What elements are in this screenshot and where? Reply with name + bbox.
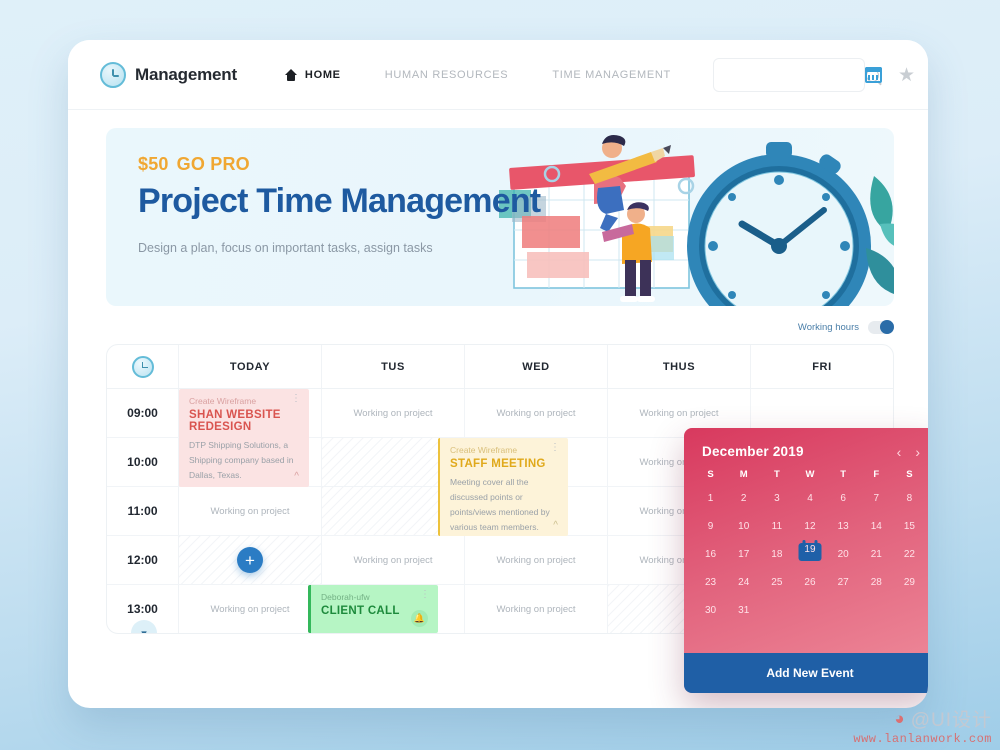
clock-icon [132, 356, 154, 378]
event-card-shan-website-redesign[interactable]: ⋮ Create Wireframe SHAN WEBSITE REDESIGN… [179, 389, 309, 487]
hero-text: $50GO PRO Project Time Management Design… [106, 128, 894, 255]
toggle-knob [880, 320, 894, 334]
more-vertical-icon[interactable]: ⋮ [291, 395, 301, 403]
time-label-1200: 12:00 [107, 536, 179, 584]
watermark-url: www.lanlanwork.com [853, 732, 992, 746]
more-vertical-icon[interactable]: ⋮ [550, 444, 560, 452]
event-subtitle: Create Wireframe [189, 396, 299, 406]
date-picker-navs: ‹ › [897, 445, 920, 459]
schedule-clock-header [107, 345, 179, 388]
date-picker-week-1: 1 2 3 4 6 7 8 [684, 490, 928, 508]
day-cell[interactable]: 13 [827, 518, 860, 536]
slot-today-1100[interactable]: Working on project [179, 487, 322, 535]
date-picker-panel: December 2019 ‹ › S M T W T F S 1 2 3 4 … [684, 428, 928, 693]
event-description: Meeting cover all the discussed points o… [450, 475, 558, 535]
time-label-1000: 10:00 [107, 438, 179, 486]
day-cell[interactable]: 24 [727, 574, 760, 592]
selected-day-badge: 19 [798, 543, 821, 561]
working-hours-row: Working hours [68, 318, 894, 336]
nav-item-time-management[interactable]: TIME MANAGEMENT [552, 69, 671, 81]
time-label-0900: 09:00 [107, 389, 179, 437]
bell-icon[interactable]: 🔔 [411, 610, 428, 627]
day-cell[interactable]: 31 [727, 602, 760, 620]
event-title: STAFF MEETING [450, 458, 558, 470]
date-picker-week-4: 23 24 25 26 27 28 29 [684, 574, 928, 592]
day-cell-empty [827, 602, 860, 620]
event-subtitle: Deborah-ufw [321, 592, 428, 602]
day-cell-empty [760, 602, 793, 620]
day-cell[interactable]: 30 [694, 602, 727, 620]
home-icon [285, 69, 298, 81]
header-actions: ★ 0 [865, 61, 928, 89]
hero-title: Project Time Management [138, 182, 894, 221]
day-header-today[interactable]: TODAY [179, 345, 322, 388]
day-cell[interactable]: 15 [893, 518, 926, 536]
hero-tag: $50GO PRO [138, 154, 894, 175]
day-cell[interactable]: 27 [827, 574, 860, 592]
time-label-1100: 11:00 [107, 487, 179, 535]
dow-tue: T [760, 469, 793, 480]
day-header-fri[interactable]: FRI [751, 345, 893, 388]
day-cell[interactable]: 9 [694, 518, 727, 536]
nav-item-human-resources-label: HUMAN RESOURCES [385, 69, 509, 81]
hero-price: $50 [138, 154, 169, 174]
day-cell[interactable]: 3 [760, 490, 793, 508]
nav-item-human-resources[interactable]: HUMAN RESOURCES [385, 69, 509, 81]
search-box[interactable] [713, 58, 865, 92]
day-cell[interactable]: 21 [860, 546, 893, 564]
app-window: Management HOME HUMAN RESOURCES TIME MAN… [68, 40, 928, 708]
hero-banner: $50GO PRO Project Time Management Design… [106, 128, 894, 306]
app-header: Management HOME HUMAN RESOURCES TIME MAN… [68, 40, 928, 110]
dow-wed: W [793, 469, 826, 480]
chevron-left-icon[interactable]: ‹ [897, 445, 902, 459]
calendar-icon[interactable] [865, 67, 882, 83]
day-header-tus[interactable]: TUS [322, 345, 465, 388]
event-description: DTP Shipping Solutions, a Shipping compa… [189, 438, 299, 483]
star-icon[interactable]: ★ [898, 66, 915, 85]
working-hours-toggle[interactable] [868, 321, 894, 334]
day-cell[interactable]: 6 [827, 490, 860, 508]
search-input[interactable] [724, 69, 866, 81]
date-picker-title: December 2019 [702, 444, 804, 459]
dow-thu: T [827, 469, 860, 480]
watermark-handle: @UI设计 [911, 705, 992, 732]
nav-item-home[interactable]: HOME [285, 69, 341, 81]
day-cell[interactable]: 7 [860, 490, 893, 508]
event-card-staff-meeting[interactable]: ⋮ Create Wireframe STAFF MEETING Meeting… [438, 438, 568, 536]
slot-tus-1200[interactable]: Working on project [322, 536, 465, 584]
day-cell-empty [793, 602, 826, 620]
day-cell[interactable]: 18 [760, 546, 793, 564]
hero-pro-label: GO PRO [177, 154, 250, 174]
date-picker-week-5: 30 31 [684, 602, 928, 620]
more-vertical-icon[interactable]: ⋮ [420, 591, 430, 599]
day-cell[interactable]: 20 [827, 546, 860, 564]
day-header-wed[interactable]: WED [465, 345, 608, 388]
dow-mon: M [727, 469, 760, 480]
working-hours-label: Working hours [798, 322, 859, 333]
day-cell-empty [893, 602, 926, 620]
day-cell[interactable]: 11 [760, 518, 793, 536]
slot-wed-1200[interactable]: Working on project [465, 536, 608, 584]
day-cell[interactable]: 10 [727, 518, 760, 536]
schedule-header-row: TODAY TUS WED THUS FRI [107, 345, 893, 389]
slot-wed-0900[interactable]: Working on project [465, 389, 608, 437]
nav-item-home-label: HOME [305, 69, 341, 81]
slot-wed-1300[interactable]: Working on project [465, 585, 608, 633]
watermark: ◕ @UI设计 www.lanlanwork.com [853, 705, 992, 746]
day-cell[interactable]: 25 [760, 574, 793, 592]
chevron-right-icon[interactable]: › [915, 445, 920, 459]
watermark-handle-row: ◕ @UI设计 [853, 705, 992, 732]
day-cell[interactable]: 26 [793, 574, 826, 592]
main-nav: HOME HUMAN RESOURCES TIME MANAGEMENT [285, 69, 671, 81]
slot-today-1300[interactable]: Working on project [179, 585, 322, 633]
chevron-up-icon[interactable]: ^ [294, 471, 299, 482]
day-cell[interactable]: 17 [727, 546, 760, 564]
day-cell[interactable]: 12 [793, 518, 826, 536]
dow-sun: S [694, 469, 727, 480]
day-header-thus[interactable]: THUS [608, 345, 751, 388]
slot-today-1200[interactable]: + [179, 536, 322, 584]
day-cell[interactable]: 14 [860, 518, 893, 536]
event-title: SHAN WEBSITE REDESIGN [189, 409, 299, 433]
nav-item-time-management-label: TIME MANAGEMENT [552, 69, 671, 81]
day-cell[interactable]: 8 [893, 490, 926, 508]
day-cell[interactable]: 29 [893, 574, 926, 592]
dow-sat: S [893, 469, 926, 480]
chevron-up-icon[interactable]: ^ [553, 520, 558, 531]
day-cell[interactable]: 2 [727, 490, 760, 508]
slot-tus-0900[interactable]: Working on project [322, 389, 465, 437]
day-cell-selected[interactable]: 19 [793, 546, 826, 564]
event-subtitle: Create Wireframe [450, 445, 558, 455]
add-new-event-button[interactable]: Add New Event [684, 653, 928, 693]
event-card-client-call[interactable]: ⋮ Deborah-ufw CLIENT CALL 🔔 [308, 585, 438, 633]
day-cell[interactable]: 16 [694, 546, 727, 564]
brand-name: Management [135, 65, 237, 85]
day-cell[interactable]: 4 [793, 490, 826, 508]
day-cell[interactable]: 23 [694, 574, 727, 592]
date-picker-header: December 2019 ‹ › [684, 428, 928, 469]
day-cell[interactable]: 1 [694, 490, 727, 508]
dow-fri: F [860, 469, 893, 480]
clock-icon [100, 62, 126, 88]
weibo-icon: ◕ [894, 709, 905, 729]
brand-logo[interactable]: Management [100, 62, 237, 88]
day-cell[interactable]: 22 [893, 546, 926, 564]
add-event-button[interactable]: + [237, 547, 263, 573]
day-cell[interactable]: 28 [860, 574, 893, 592]
date-picker-week-2: 9 10 11 12 13 14 15 [684, 518, 928, 536]
day-cell-empty [860, 602, 893, 620]
date-picker-dow-row: S M T W T F S [684, 469, 928, 480]
date-picker-week-3: 16 17 18 19 20 21 22 [684, 546, 928, 564]
hero-subtitle: Design a plan, focus on important tasks,… [138, 241, 894, 255]
